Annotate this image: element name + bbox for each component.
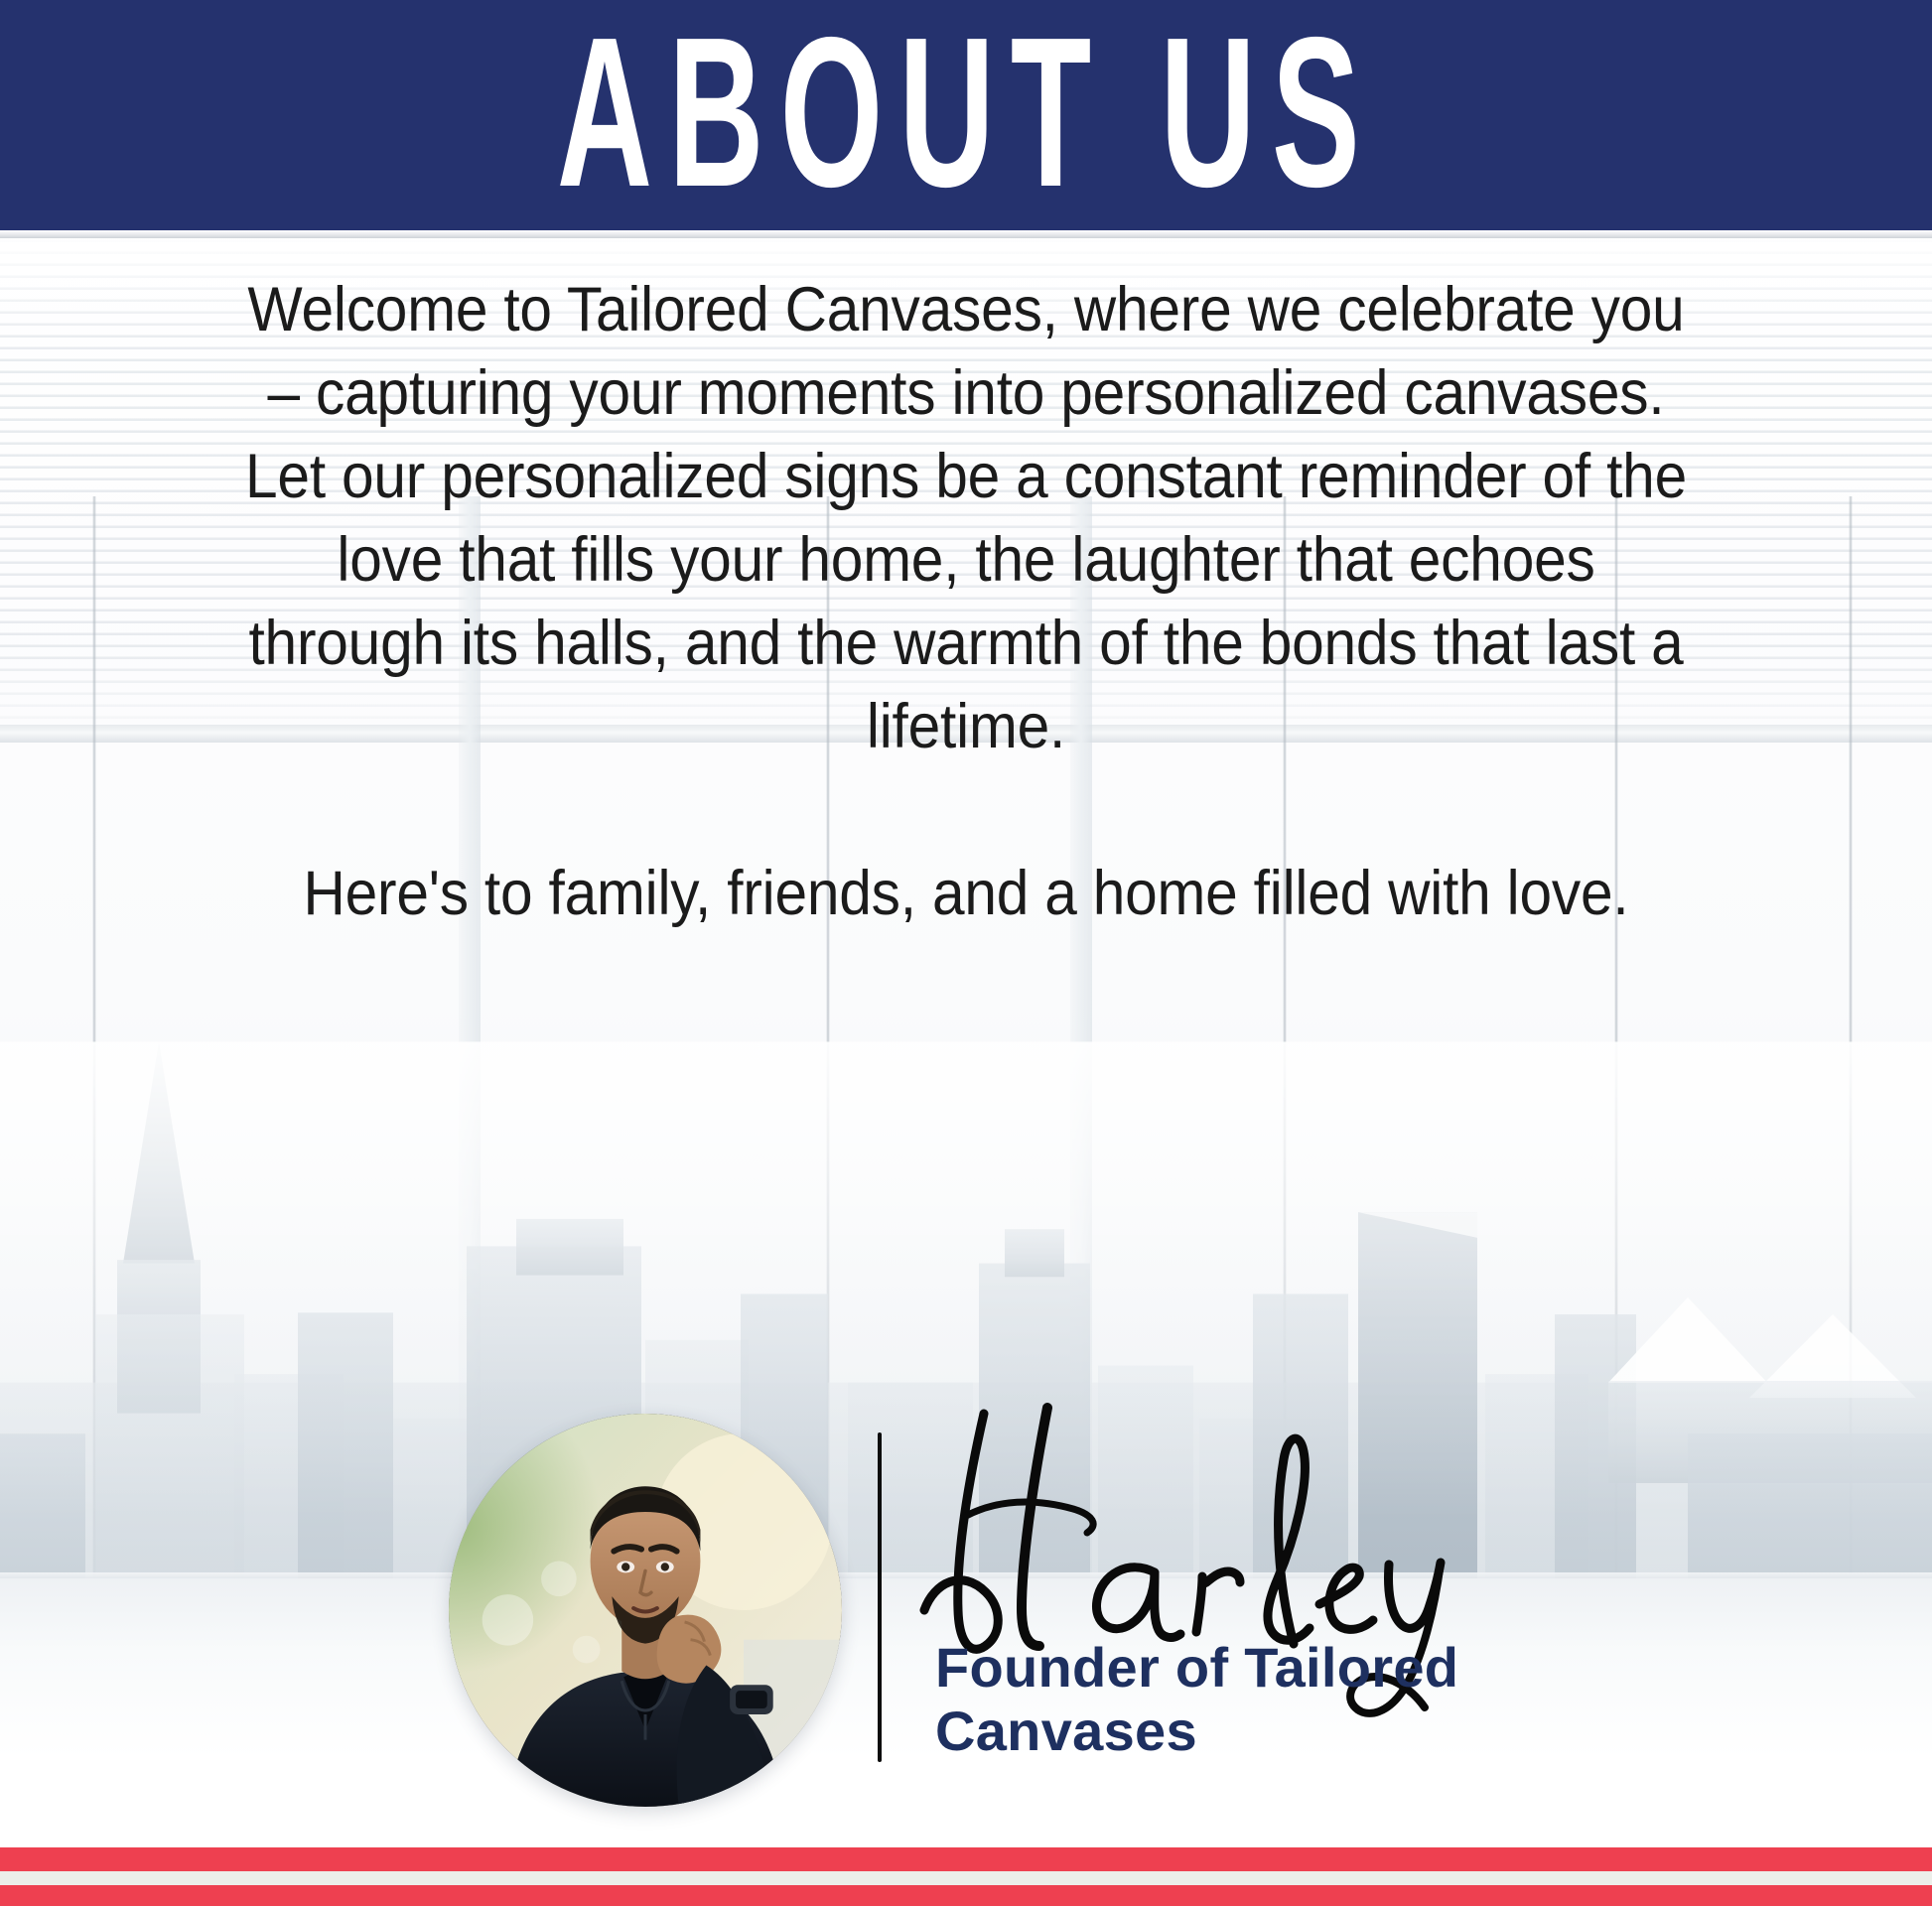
page-title: ABOUT US	[556, 5, 1375, 218]
about-paragraph-1: Welcome to Tailored Canvases, where we c…	[234, 268, 1699, 768]
bottom-stripe-upper	[0, 1847, 1932, 1871]
avatar	[449, 1414, 842, 1807]
founder-portrait-photo	[449, 1414, 842, 1807]
about-copy: Welcome to Tailored Canvases, where we c…	[0, 268, 1932, 935]
vertical-divider	[878, 1432, 882, 1762]
about-us-poster: ABOUT US Welcome to Tailored Canvases, w…	[0, 0, 1932, 1906]
founder-role: Founder of Tailored Canvases	[935, 1636, 1571, 1763]
founder-role-line-2: Canvases	[935, 1700, 1571, 1763]
founder-role-line-1: Founder of Tailored	[935, 1636, 1571, 1700]
header-banner: ABOUT US	[0, 0, 1932, 230]
bottom-stripe-lower	[0, 1885, 1932, 1906]
bottom-stripe-gap	[0, 1871, 1932, 1885]
about-paragraph-2: Here's to family, friends, and a home fi…	[234, 852, 1699, 935]
paragraph-spacer	[179, 768, 1753, 852]
header-underline	[0, 230, 1932, 238]
